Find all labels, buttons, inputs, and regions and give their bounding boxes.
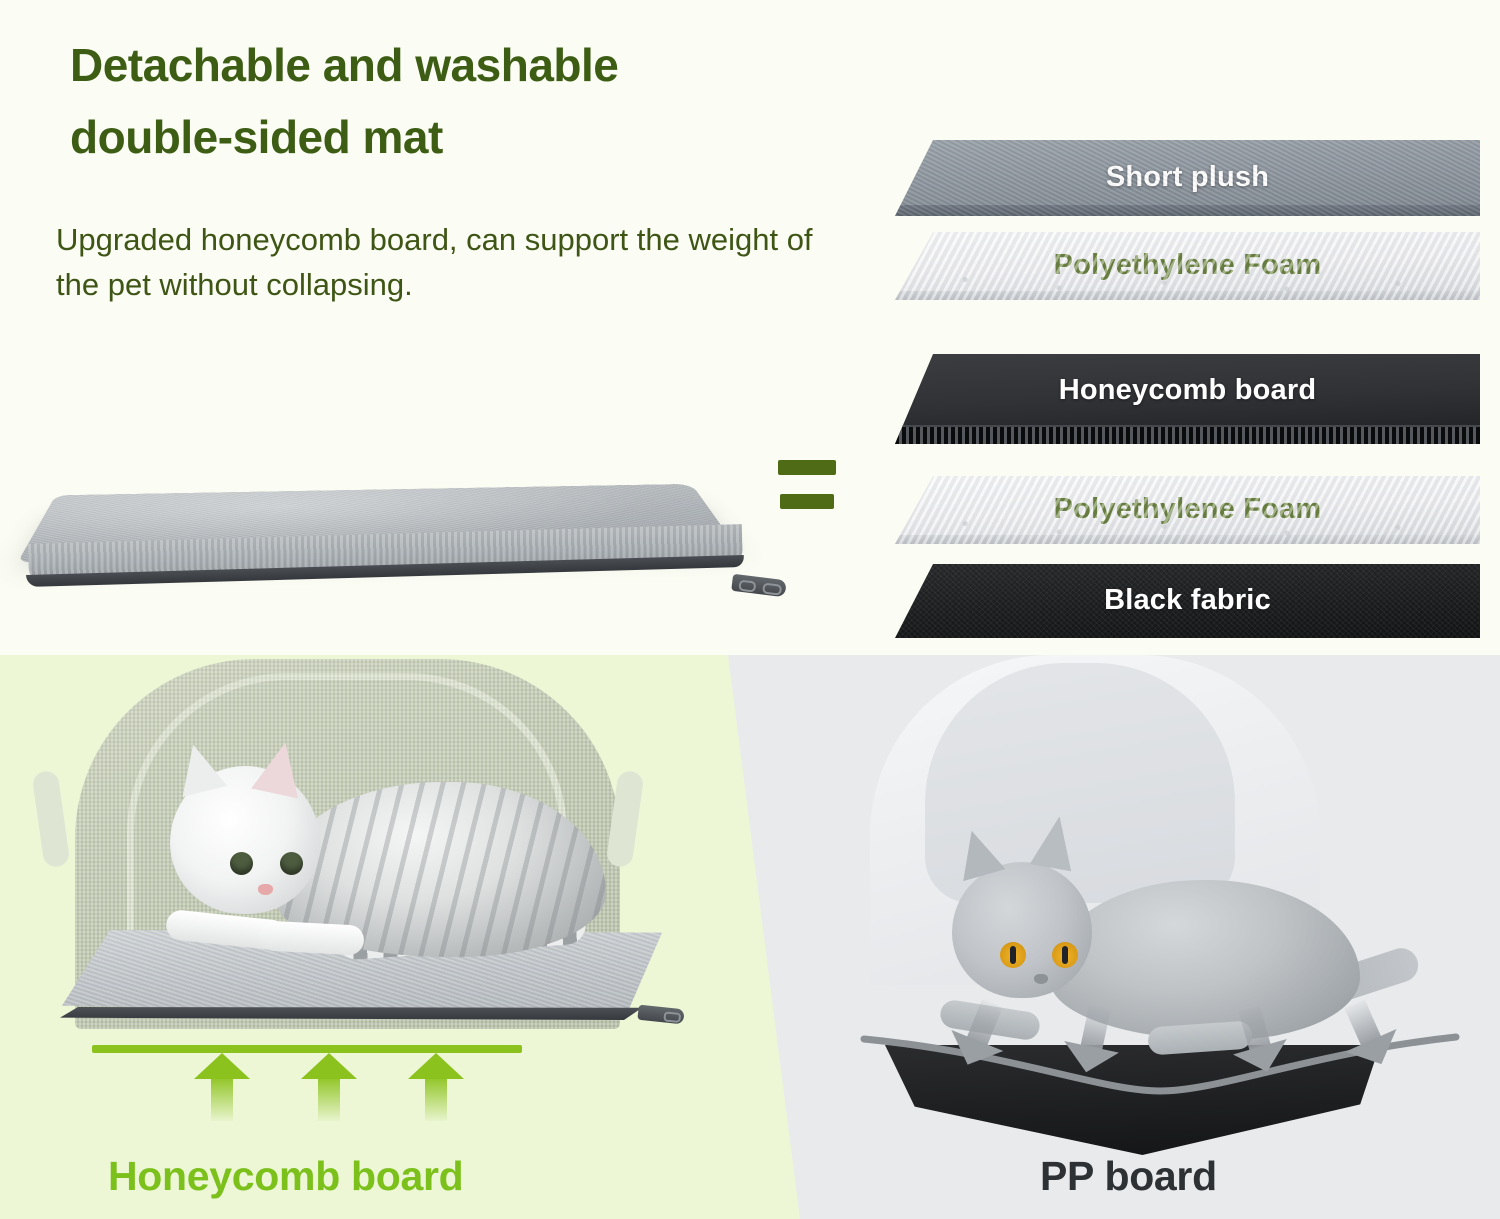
layer-honeycomb-board: Honeycomb board	[895, 354, 1480, 444]
layer-polyethylene-foam-top: Polyethylene Foam	[895, 232, 1480, 300]
layer-label-honeycomb-board: Honeycomb board	[1059, 374, 1317, 409]
headline-block: Detachable and washable double-sided mat	[62, 36, 892, 180]
layer-label-short-plush: Short plush	[1106, 161, 1269, 196]
up-arrow-icon-2	[301, 1053, 357, 1121]
layer-short-plush: Short plush	[895, 140, 1480, 216]
equals-sign-icon	[778, 460, 840, 524]
comparison-panel: Honeycomb board P	[0, 655, 1500, 1219]
headline-line-1: Detachable and washable	[62, 36, 626, 92]
layer-label-black-fabric: Black fabric	[1104, 584, 1271, 619]
layer-black-fabric: Black fabric	[895, 564, 1480, 638]
top-panel: Detachable and washable double-sided mat…	[0, 0, 1500, 655]
pp-board-label: PP board	[1040, 1153, 1460, 1200]
layer-stack-diagram: Short plush Polyethylene Foam Honeycomb …	[895, 140, 1495, 595]
up-arrow-icon-3	[408, 1053, 464, 1121]
headline-text-1: Detachable and washable	[70, 39, 618, 91]
left-support-indicator: Honeycomb board	[0, 655, 800, 1219]
honeycomb-flute-edge	[895, 425, 1480, 444]
zipper-pull-icon	[731, 574, 787, 597]
layer-label-foam-top: Polyethylene Foam	[1054, 249, 1322, 284]
assembled-mat-illustration	[10, 405, 800, 625]
layer-polyethylene-foam-bottom: Polyethylene Foam	[895, 476, 1480, 544]
headline-text-2: double-sided mat	[70, 111, 443, 163]
right-collapse-indicator: PP board	[800, 655, 1500, 1219]
infographic-root: Detachable and washable double-sided mat…	[0, 0, 1500, 1219]
layer-label-foam-bottom: Polyethylene Foam	[1054, 493, 1322, 528]
up-arrow-icon-1	[194, 1053, 250, 1121]
subtitle-text: Upgraded honeycomb board, can support th…	[56, 218, 846, 308]
headline-line-2: double-sided mat	[62, 108, 451, 164]
flat-support-line	[92, 1045, 522, 1053]
honeycomb-board-label: Honeycomb board	[108, 1153, 628, 1200]
